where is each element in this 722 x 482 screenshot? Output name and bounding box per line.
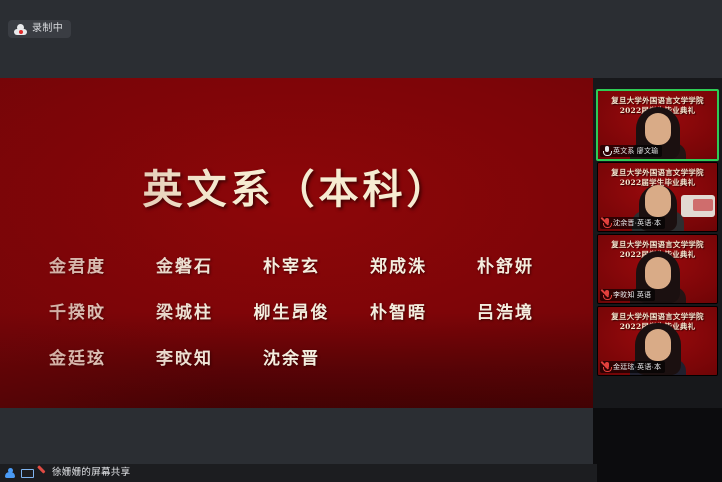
graduate-name: 金磐石 (131, 250, 238, 284)
microphone-muted-icon (603, 362, 610, 372)
participant-tile[interactable]: 复旦大学外国语言文学学院 2022届学生毕业典礼 金廷玹·英语·本 (597, 306, 718, 376)
slide-title: 英文系（本科） (0, 170, 593, 210)
screen-share-icon (20, 467, 32, 479)
microphone-muted-icon (603, 290, 610, 300)
presentation-slide: 英文系（本科） 金君度 金磐石 朴宰玄 郑成洙 朴舒妍 千揆旼 梁城柱 柳生昂俊… (0, 78, 593, 408)
microphone-muted-icon (603, 218, 610, 228)
participant-tile[interactable]: 复旦大学外国语言文学学院 2022届学生毕业典礼 英文系 廖文瑜 (596, 89, 719, 161)
graduate-name: 朴宰玄 (238, 250, 345, 284)
strip-bottom-gutter (593, 408, 722, 482)
graduate-name: 梁城柱 (131, 296, 238, 330)
graduate-name: 金君度 (24, 250, 131, 284)
graduate-name: 郑成洙 (345, 250, 452, 284)
screen-share-status-bar: 徐姗姗的屏幕共享 (0, 464, 597, 482)
participant-name-bar: 金廷玹·英语·本 (600, 361, 665, 373)
recording-label: 录制中 (32, 24, 63, 34)
name-row: 金君度 金磐石 朴宰玄 郑成洙 朴舒妍 (24, 250, 569, 284)
shared-screen-area[interactable]: 英文系（本科） 金君度 金磐石 朴宰玄 郑成洙 朴舒妍 千揆旼 梁城柱 柳生昂俊… (0, 78, 593, 408)
participant-name-bar: 沈余晋·英语·本 (600, 217, 665, 229)
graduate-name: 朴智晤 (345, 296, 452, 330)
cloud-record-icon (14, 24, 27, 35)
recording-indicator[interactable]: 录制中 (8, 20, 71, 38)
user-icon (4, 467, 16, 479)
name-row: 千揆旼 梁城柱 柳生昂俊 朴智晤 吕浩境 (24, 296, 569, 330)
graduate-name: 金廷玹 (24, 342, 131, 376)
participant-tile[interactable]: 复旦大学外国语言文学学院 2022届学生毕业典礼 李旼知 英语 (597, 234, 718, 304)
annotate-pen-icon[interactable] (36, 467, 48, 479)
participant-name-bar: 英文系 廖文瑜 (600, 145, 662, 157)
participant-name: 沈余晋·英语·本 (613, 220, 661, 227)
participant-tile[interactable]: 复旦大学外国语言文学学院 2022届学生毕业典礼 沈余晋·英语·本 (597, 162, 718, 232)
graduate-name: 千揆旼 (24, 296, 131, 330)
microphone-icon (603, 146, 610, 156)
zoom-meeting-window: 录制中 英文系（本科） 金君度 金磐石 朴宰玄 郑成洙 朴舒妍 千揆旼 梁城柱 … (0, 0, 722, 482)
participant-name: 英文系 廖文瑜 (613, 148, 658, 155)
graduate-name: 柳生昂俊 (238, 296, 345, 330)
top-bar: 录制中 (0, 0, 722, 78)
participant-name: 金廷玹·英语·本 (613, 364, 661, 371)
graduate-name: 朴舒妍 (452, 250, 559, 284)
name-row: 金廷玹 李旼知 沈余晋 (24, 342, 569, 376)
graduate-name: 李旼知 (131, 342, 238, 376)
foreground-object-2 (693, 199, 713, 211)
participant-name: 李旼知 英语 (613, 292, 651, 299)
graduate-name: 沈余晋 (238, 342, 345, 376)
graduate-name-list: 金君度 金磐石 朴宰玄 郑成洙 朴舒妍 千揆旼 梁城柱 柳生昂俊 朴智晤 吕浩境… (24, 250, 569, 388)
graduate-name: 吕浩境 (452, 296, 559, 330)
participant-name-bar: 李旼知 英语 (600, 289, 655, 301)
screen-share-label: 徐姗姗的屏幕共享 (52, 468, 130, 478)
